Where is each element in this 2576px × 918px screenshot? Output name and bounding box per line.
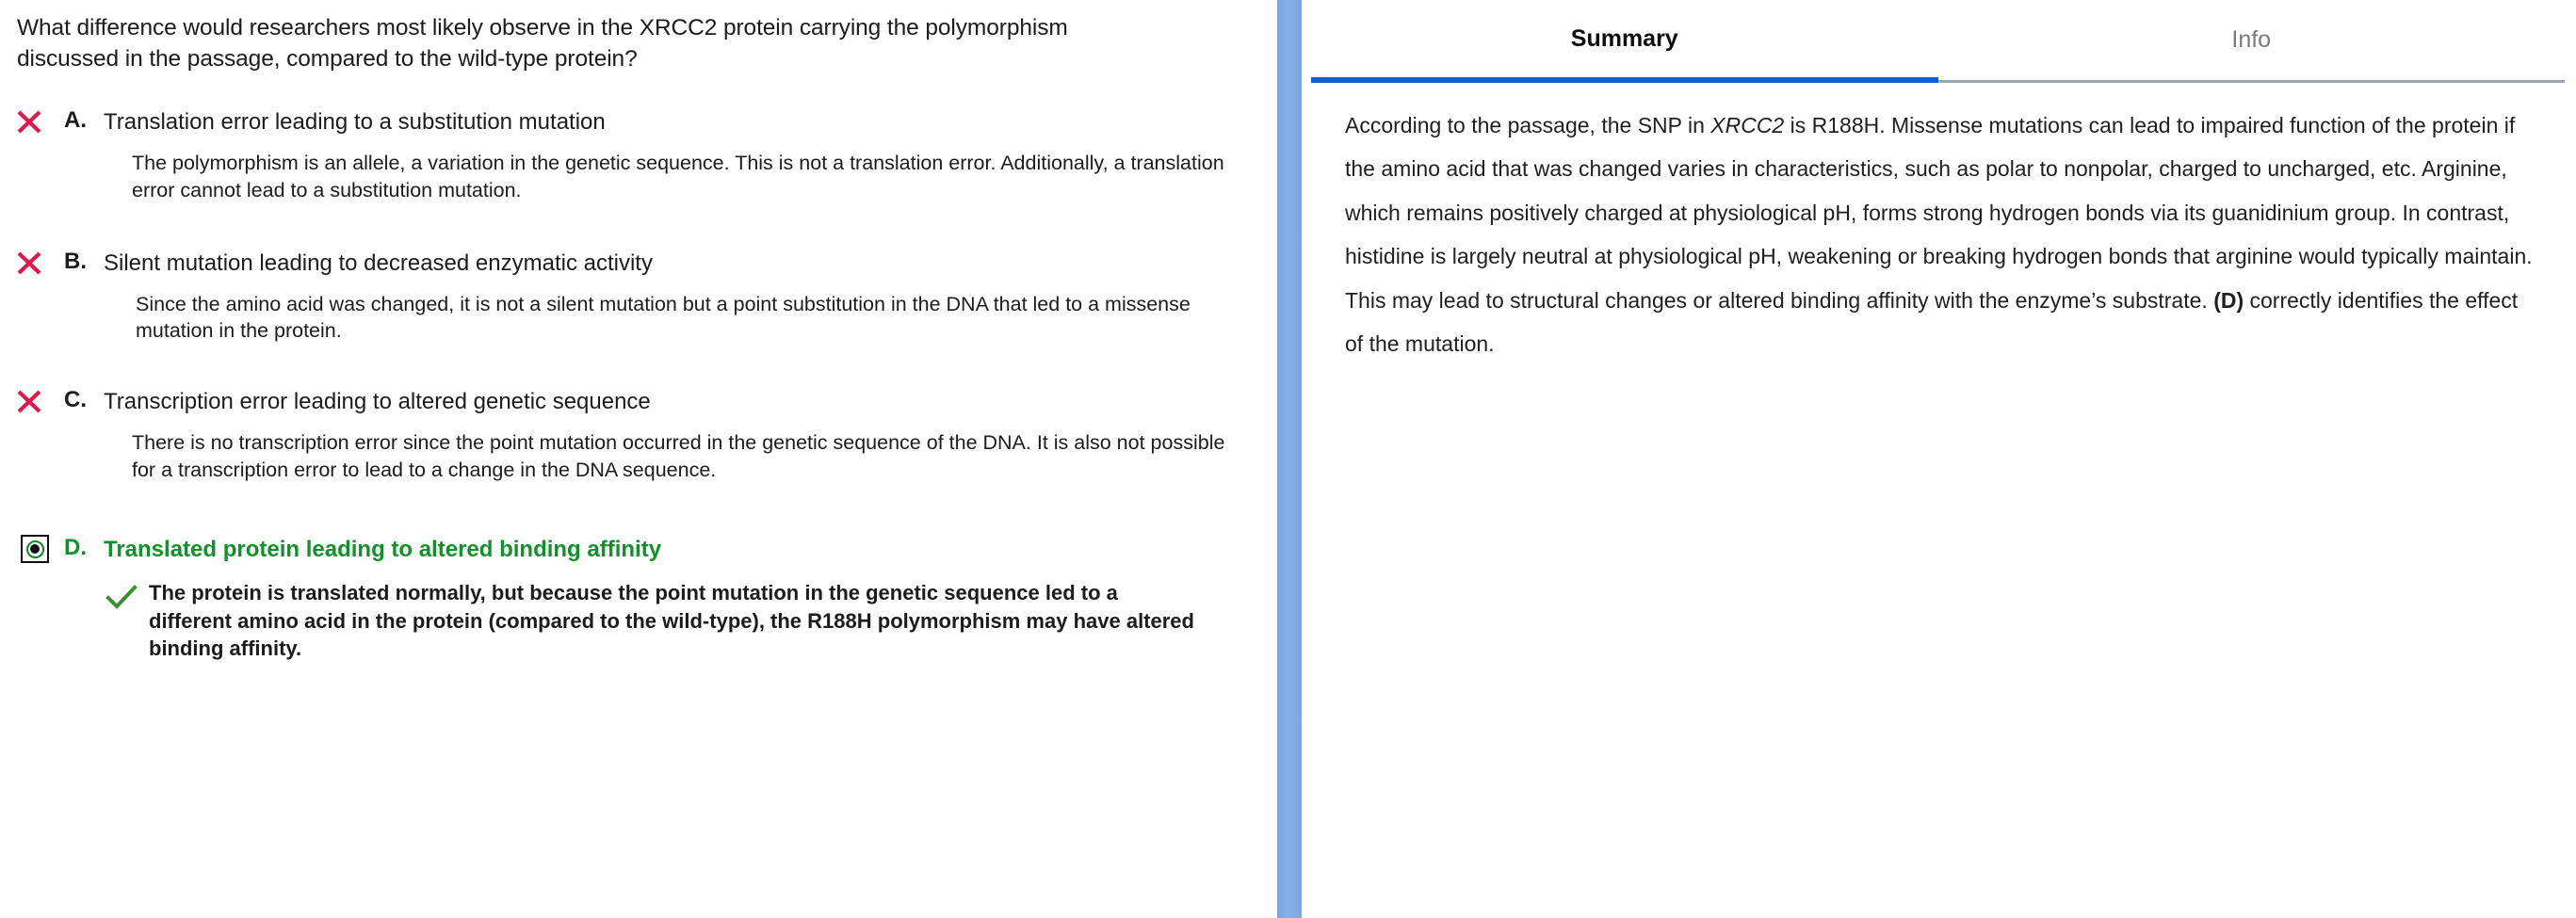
choice-block-a[interactable]: A. Translation error leading to a substi… <box>15 106 1260 203</box>
choice-row-c[interactable]: C. Transcription error leading to altere… <box>15 386 1260 416</box>
choice-a-explanation: The polymorphism is an allele, a variati… <box>132 150 1234 203</box>
choice-block-b[interactable]: B. Silent mutation leading to decreased … <box>15 248 1260 345</box>
choice-a-mark-slot <box>15 106 64 136</box>
choice-c-mark-slot <box>15 386 64 415</box>
tab-info[interactable]: Info <box>1938 0 2566 83</box>
choice-d-check-slot <box>105 579 149 616</box>
summary-part-1: According to the passage, the SNP in <box>1345 113 1710 137</box>
choice-block-d[interactable]: D. Translated protein leading to altered… <box>15 534 1260 661</box>
choice-d-text: Translated protein leading to altered bi… <box>104 534 661 564</box>
x-icon <box>15 387 43 415</box>
check-icon <box>105 585 138 611</box>
radio-outer-ring <box>26 540 44 558</box>
choice-a-text: Translation error leading to a substitut… <box>104 106 606 137</box>
choice-d-mark-slot[interactable] <box>15 534 64 563</box>
radio-selected-icon[interactable] <box>21 535 49 563</box>
gene-name-xrcc2: XRCC2 <box>1710 113 1784 137</box>
choice-b-mark-slot <box>15 248 64 277</box>
reference-tabs: Summary Info <box>1311 0 2565 83</box>
choice-c-letter: C. <box>64 386 104 413</box>
summary-part-2: is R188H. Missense mutations can lead to… <box>1345 113 2533 313</box>
question-panel: What difference would researchers most l… <box>0 0 1277 918</box>
choice-b-text: Silent mutation leading to decreased enz… <box>104 248 653 278</box>
reference-panel: Summary Info According to the passage, t… <box>1302 0 2576 918</box>
choice-c-explanation: There is no transcription error since th… <box>132 429 1234 483</box>
answer-reference-d: (D) <box>2213 288 2244 313</box>
x-icon <box>15 107 43 136</box>
question-stem: What difference would researchers most l… <box>17 13 1161 74</box>
choice-row-d[interactable]: D. Translated protein leading to altered… <box>15 534 1260 564</box>
x-icon <box>15 249 43 277</box>
choice-row-a[interactable]: A. Translation error leading to a substi… <box>15 106 1260 137</box>
panel-divider[interactable] <box>1277 0 1302 918</box>
choice-b-explanation: Since the amino acid was changed, it is … <box>136 291 1242 345</box>
summary-body: According to the passage, the SNP in XRC… <box>1302 83 2576 366</box>
summary-paragraph: According to the passage, the SNP in XRC… <box>1345 104 2533 366</box>
choice-d-explanation-row: The protein is translated normally, but … <box>105 579 1236 661</box>
radio-inner-dot <box>30 544 40 554</box>
choice-d-letter: D. <box>64 534 104 561</box>
tab-summary[interactable]: Summary <box>1311 0 1938 83</box>
choice-c-text: Transcription error leading to altered g… <box>104 386 651 416</box>
choice-row-b[interactable]: B. Silent mutation leading to decreased … <box>15 248 1260 278</box>
choice-d-explanation: The protein is translated normally, but … <box>149 579 1199 661</box>
choice-a-letter: A. <box>64 106 104 134</box>
choice-block-c[interactable]: C. Transcription error leading to altere… <box>15 386 1260 483</box>
question-review-screen: What difference would researchers most l… <box>0 0 2576 918</box>
choice-b-letter: B. <box>64 248 104 275</box>
